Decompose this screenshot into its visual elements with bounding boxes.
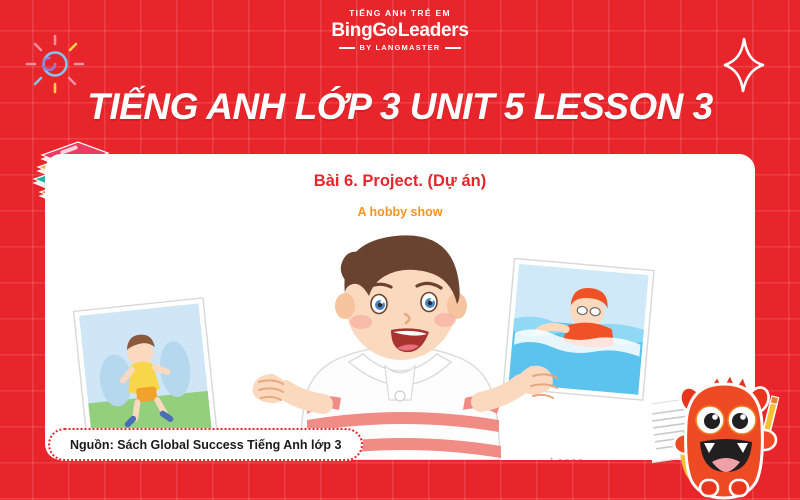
cropped-caption-text: Lesso <box>550 456 584 460</box>
brand-ring-icon <box>387 26 397 36</box>
byline-text: BY LANGMASTER <box>360 44 441 52</box>
page-title: TIẾNG ANH LỚP 3 UNIT 5 LESSON 3 <box>0 88 800 125</box>
sun-doodle-icon <box>24 33 86 95</box>
lesson-illustration: Lesso <box>45 206 755 460</box>
lesson-card: Bài 6. Project. (Dự án) A hobby show <box>45 154 755 460</box>
brand-name-right: Leaders <box>398 20 469 42</box>
source-badge-label: Nguồn: Sách Global Success Tiếng Anh lớp… <box>70 438 341 452</box>
brand-name-left: BingG <box>331 20 387 42</box>
sparkle-icon <box>722 36 766 94</box>
slide-background: TIẾNG ANH TRẺ EM BingG Leaders BY LANGMA… <box>0 0 800 500</box>
monster-mascot-icon <box>652 362 794 500</box>
brand-logo: TIẾNG ANH TRẺ EM BingG Leaders BY LANGMA… <box>0 9 800 52</box>
byline-rule-right <box>445 47 461 49</box>
brand-tagline: TIẾNG ANH TRẺ EM <box>349 9 451 18</box>
byline-rule-left <box>339 47 355 49</box>
brand-name: BingG Leaders <box>331 20 468 42</box>
source-badge: Nguồn: Sách Global Success Tiếng Anh lớp… <box>48 428 363 461</box>
brand-byline: BY LANGMASTER <box>339 44 462 52</box>
lesson-title: Bài 6. Project. (Dự án) <box>45 172 755 192</box>
